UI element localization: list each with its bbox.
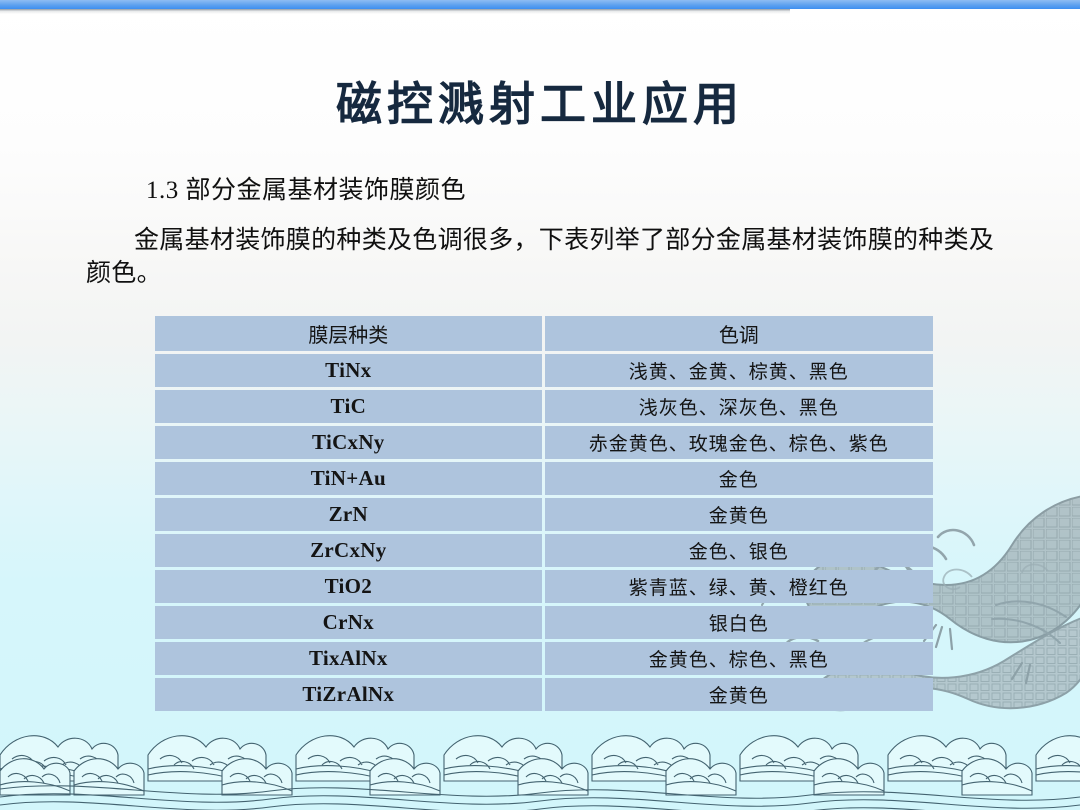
cell-film-tone: 金黄色、棕色、黑色 (545, 642, 933, 675)
table-row: TiZrAlNx金黄色 (155, 678, 933, 711)
top-accent-bar-shadow (0, 9, 790, 14)
top-accent-bar (0, 0, 1080, 9)
cell-film-tone: 紫青蓝、绿、黄、橙红色 (545, 570, 933, 603)
cell-film-tone: 赤金黄色、玫瑰金色、棕色、紫色 (545, 426, 933, 459)
cell-film-tone: 金色 (545, 462, 933, 495)
cell-film-kind: TiN+Au (155, 462, 542, 495)
table-row: TiNx浅黄、金黄、棕黄、黑色 (155, 354, 933, 387)
cell-film-tone: 银白色 (545, 606, 933, 639)
table-row: ZrCxNy金色、银色 (155, 534, 933, 567)
cell-film-kind: TiC (155, 390, 542, 423)
cell-film-tone: 金色、银色 (545, 534, 933, 567)
table-row: TiN+Au金色 (155, 462, 933, 495)
body-paragraph: 金属基材装饰膜的种类及色调很多，下表列举了部分金属基材装饰膜的种类及颜色。 (86, 224, 1006, 290)
slide-canvas: 磁控溅射工业应用 1.3 部分金属基材装饰膜颜色 金属基材装饰膜的种类及色调很多… (0, 0, 1080, 810)
film-color-table: 膜层种类 色调 TiNx浅黄、金黄、棕黄、黑色TiC浅灰色、深灰色、黑色TiCx… (152, 313, 936, 714)
table-row: TiO2紫青蓝、绿、黄、橙红色 (155, 570, 933, 603)
column-header-tone: 色调 (545, 316, 933, 351)
cell-film-kind: TiO2 (155, 570, 542, 603)
table-row: CrNx银白色 (155, 606, 933, 639)
cell-film-kind: TiCxNy (155, 426, 542, 459)
page-title: 磁控溅射工业应用 (0, 68, 1080, 134)
cell-film-kind: ZrN (155, 498, 542, 531)
section-heading: 1.3 部分金属基材装饰膜颜色 (146, 170, 466, 206)
cell-film-tone: 金黄色 (545, 678, 933, 711)
table-row: ZrN金黄色 (155, 498, 933, 531)
table-body: TiNx浅黄、金黄、棕黄、黑色TiC浅灰色、深灰色、黑色TiCxNy赤金黄色、玫… (155, 354, 933, 711)
cell-film-kind: TiZrAlNx (155, 678, 542, 711)
cell-film-kind: TiNx (155, 354, 542, 387)
cell-film-tone: 浅灰色、深灰色、黑色 (545, 390, 933, 423)
column-header-kind: 膜层种类 (155, 316, 542, 351)
table-header-row: 膜层种类 色调 (155, 316, 933, 351)
cell-film-kind: TixAlNx (155, 642, 542, 675)
table-row: TiCxNy赤金黄色、玫瑰金色、棕色、紫色 (155, 426, 933, 459)
cell-film-kind: ZrCxNy (155, 534, 542, 567)
table-row: TiC浅灰色、深灰色、黑色 (155, 390, 933, 423)
table-row: TixAlNx金黄色、棕色、黑色 (155, 642, 933, 675)
cell-film-kind: CrNx (155, 606, 542, 639)
cell-film-tone: 金黄色 (545, 498, 933, 531)
cell-film-tone: 浅黄、金黄、棕黄、黑色 (545, 354, 933, 387)
